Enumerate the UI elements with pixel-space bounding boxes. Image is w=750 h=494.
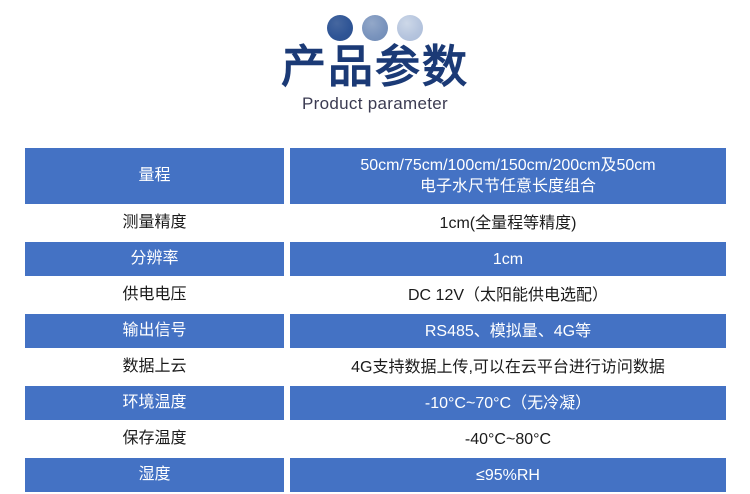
page-title: 产品参数	[0, 41, 750, 93]
spec-value: 1cm(全量程等精度)	[290, 206, 726, 240]
spec-value: 1cm	[290, 242, 726, 276]
table-row: 保存温度-40°C~80°C	[25, 422, 726, 456]
spec-label: 量程	[25, 148, 284, 204]
spec-value: 4G支持数据上传,可以在云平台进行访问数据	[290, 350, 726, 384]
page-subtitle: Product parameter	[0, 93, 750, 114]
spec-label: 测量精度	[25, 206, 284, 240]
spec-value-line: 50cm/75cm/100cm/150cm/200cm及50cm	[360, 155, 655, 176]
spec-value-line: DC 12V（太阳能供电选配）	[408, 285, 608, 306]
spec-value: RS485、模拟量、4G等	[290, 314, 726, 348]
table-row: 量程50cm/75cm/100cm/150cm/200cm及50cm电子水尺节任…	[25, 148, 726, 204]
spec-value-line: -40°C~80°C	[465, 429, 551, 450]
spec-value-line: 1cm(全量程等精度)	[440, 213, 577, 234]
page-header: 产品参数 Product parameter	[0, 0, 750, 130]
table-row: 环境温度-10°C~70°C（无冷凝）	[25, 386, 726, 420]
spec-value: 50cm/75cm/100cm/150cm/200cm及50cm电子水尺节任意长…	[290, 148, 726, 204]
table-row: 供电电压DC 12V（太阳能供电选配）	[25, 278, 726, 312]
spec-label: 供电电压	[25, 278, 284, 312]
specification-table: 量程50cm/75cm/100cm/150cm/200cm及50cm电子水尺节任…	[25, 148, 726, 494]
spec-value: -10°C~70°C（无冷凝）	[290, 386, 726, 420]
table-row: 输出信号RS485、模拟量、4G等	[25, 314, 726, 348]
dot-dark-icon	[327, 15, 353, 41]
spec-value-line: RS485、模拟量、4G等	[425, 321, 591, 342]
spec-value-line: -10°C~70°C（无冷凝）	[425, 393, 591, 414]
dot-medium-icon	[362, 15, 388, 41]
table-row: 测量精度1cm(全量程等精度)	[25, 206, 726, 240]
spec-value: -40°C~80°C	[290, 422, 726, 456]
spec-label: 环境温度	[25, 386, 284, 420]
spec-value-line: ≤95%RH	[476, 465, 540, 486]
product-parameter-page: 产品参数 Product parameter 量程50cm/75cm/100cm…	[0, 0, 750, 487]
spec-value: DC 12V（太阳能供电选配）	[290, 278, 726, 312]
dot-light-icon	[397, 15, 423, 41]
spec-label: 输出信号	[25, 314, 284, 348]
spec-label: 保存温度	[25, 422, 284, 456]
spec-value-line: 4G支持数据上传,可以在云平台进行访问数据	[351, 357, 665, 378]
spec-label: 数据上云	[25, 350, 284, 384]
table-row: 分辨率1cm	[25, 242, 726, 276]
spec-value-line: 电子水尺节任意长度组合	[420, 176, 596, 197]
decorative-dots	[0, 15, 750, 41]
table-row: 数据上云4G支持数据上传,可以在云平台进行访问数据	[25, 350, 726, 384]
spec-label: 分辨率	[25, 242, 284, 276]
spec-value-line: 1cm	[493, 249, 523, 270]
